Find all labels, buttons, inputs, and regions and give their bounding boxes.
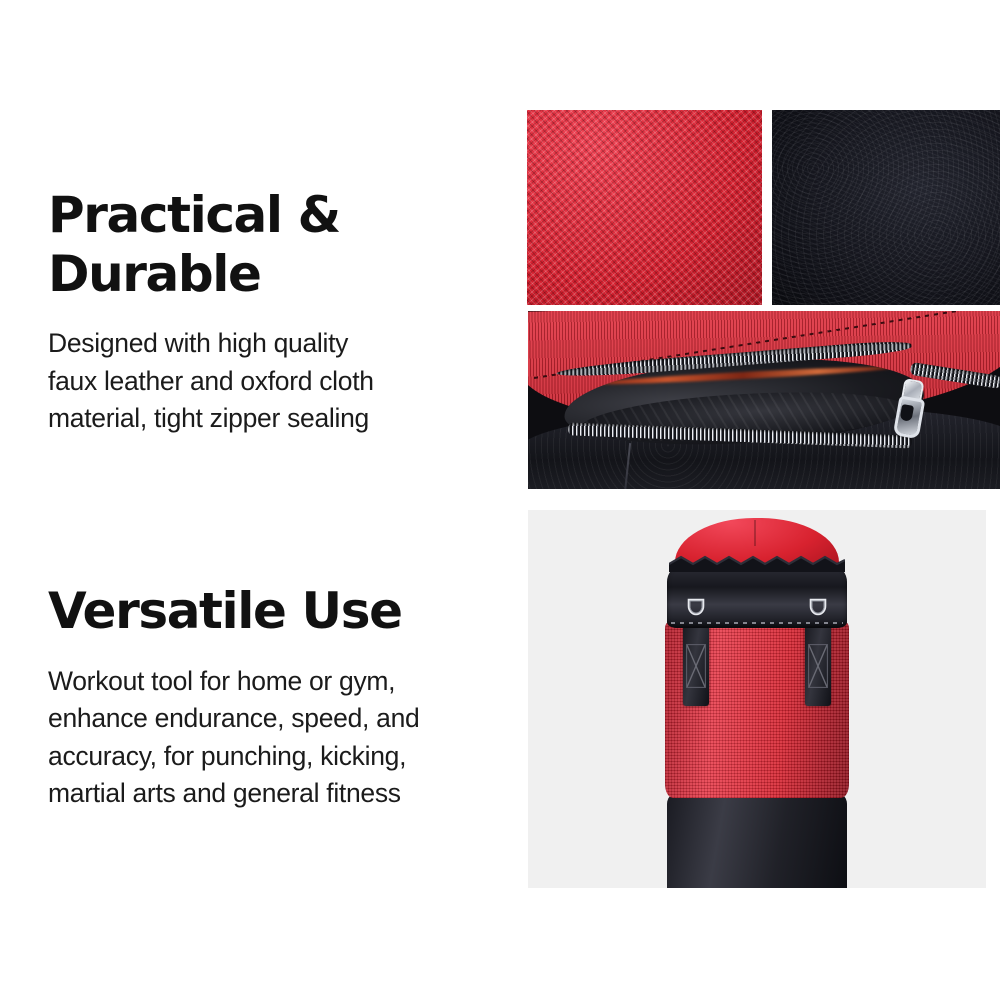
feature-heading-practical-durable: Practical & Durable [48, 186, 508, 303]
black-faux-leather-swatch [772, 110, 1000, 305]
media-column [527, 110, 1000, 888]
feature-body-practical-durable: Designed with high quality faux leather … [48, 325, 508, 438]
feature-heading-versatile-use: Versatile Use [48, 582, 508, 641]
d-ring-icon [807, 598, 829, 622]
feature-block-versatile-use: Versatile Use Workout tool for home or g… [48, 582, 508, 813]
punching-bag [659, 518, 855, 888]
zipper-photo-seam [623, 443, 631, 489]
product-feature-page: Practical & Durable Designed with high q… [0, 0, 1000, 1000]
bag-leather-bottom [667, 790, 847, 888]
material-swatch-row [527, 110, 1000, 305]
d-ring-icon [685, 598, 707, 622]
zipper-closeup-photo [528, 311, 1000, 489]
punching-bag-photo [528, 510, 986, 888]
feature-body-versatile-use: Workout tool for home or gym, enhance en… [48, 663, 508, 814]
strap-x-stitch-icon [808, 644, 828, 688]
bag-zigzag-zipper-band [669, 552, 845, 572]
strap-x-stitch-icon [686, 644, 706, 688]
red-oxford-cloth-swatch [527, 110, 762, 305]
feature-block-practical-durable: Practical & Durable Designed with high q… [48, 186, 508, 438]
